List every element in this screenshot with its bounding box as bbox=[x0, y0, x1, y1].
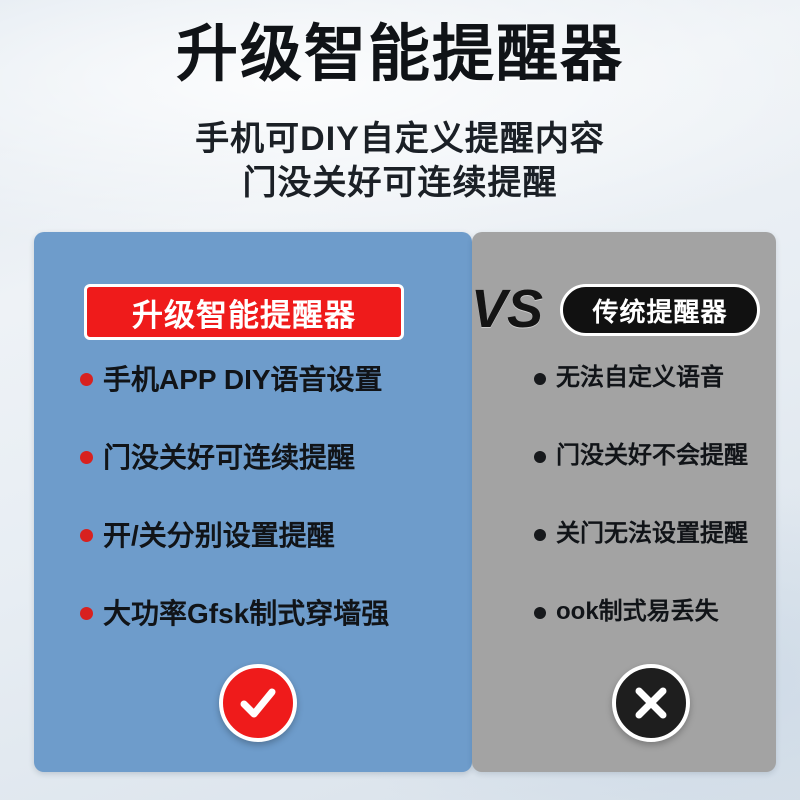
list-item: 门没关好可连续提醒 bbox=[80, 442, 460, 520]
bullet-icon bbox=[534, 607, 546, 619]
feature-text: ook制式易丢失 bbox=[556, 598, 719, 626]
list-item: 开/关分别设置提醒 bbox=[80, 520, 460, 598]
bullet-icon bbox=[80, 451, 93, 464]
feature-text: 门没关好可连续提醒 bbox=[103, 442, 355, 474]
feature-text: 大功率Gfsk制式穿墙强 bbox=[103, 598, 389, 630]
list-item: 大功率Gfsk制式穿墙强 bbox=[80, 598, 460, 676]
list-item: 门没关好不会提醒 bbox=[534, 442, 784, 520]
bullet-icon bbox=[534, 373, 546, 385]
feature-list-upgraded: 手机APP DIY语音设置 门没关好可连续提醒 开/关分别设置提醒 大功率Gfs… bbox=[80, 364, 460, 676]
page-title: 升级智能提醒器 bbox=[0, 22, 800, 89]
cross-icon bbox=[612, 664, 690, 742]
comparison-panels: 升级智能提醒器 VS 传统提醒器 手机APP DIY语音设置 门没关好可连续提醒… bbox=[34, 232, 776, 772]
vs-label: VS bbox=[452, 274, 562, 344]
feature-list-traditional: 无法自定义语音 门没关好不会提醒 关门无法设置提醒 ook制式易丢失 bbox=[534, 364, 784, 676]
feature-text: 手机APP DIY语音设置 bbox=[103, 364, 383, 396]
bullet-icon bbox=[534, 529, 546, 541]
list-item: 手机APP DIY语音设置 bbox=[80, 364, 460, 442]
bullet-icon bbox=[534, 451, 546, 463]
subtitle-line-1: 手机可DIY自定义提醒内容 bbox=[0, 118, 800, 160]
badge-traditional-product: 传统提醒器 bbox=[560, 284, 760, 336]
feature-text: 开/关分别设置提醒 bbox=[103, 520, 335, 552]
bullet-icon bbox=[80, 529, 93, 542]
bullet-icon bbox=[80, 607, 93, 620]
feature-text: 无法自定义语音 bbox=[556, 364, 724, 392]
list-item: 无法自定义语音 bbox=[534, 364, 784, 442]
badge-upgraded-product: 升级智能提醒器 bbox=[84, 284, 404, 340]
bullet-icon bbox=[80, 373, 93, 386]
feature-text: 关门无法设置提醒 bbox=[556, 520, 748, 548]
feature-text: 门没关好不会提醒 bbox=[556, 442, 748, 470]
comparison-poster: 升级智能提醒器 手机可DIY自定义提醒内容 门没关好可连续提醒 升级智能提醒器 … bbox=[0, 0, 800, 800]
subtitle-line-2: 门没关好可连续提醒 bbox=[0, 162, 800, 204]
list-item: 关门无法设置提醒 bbox=[534, 520, 784, 598]
check-icon bbox=[219, 664, 297, 742]
